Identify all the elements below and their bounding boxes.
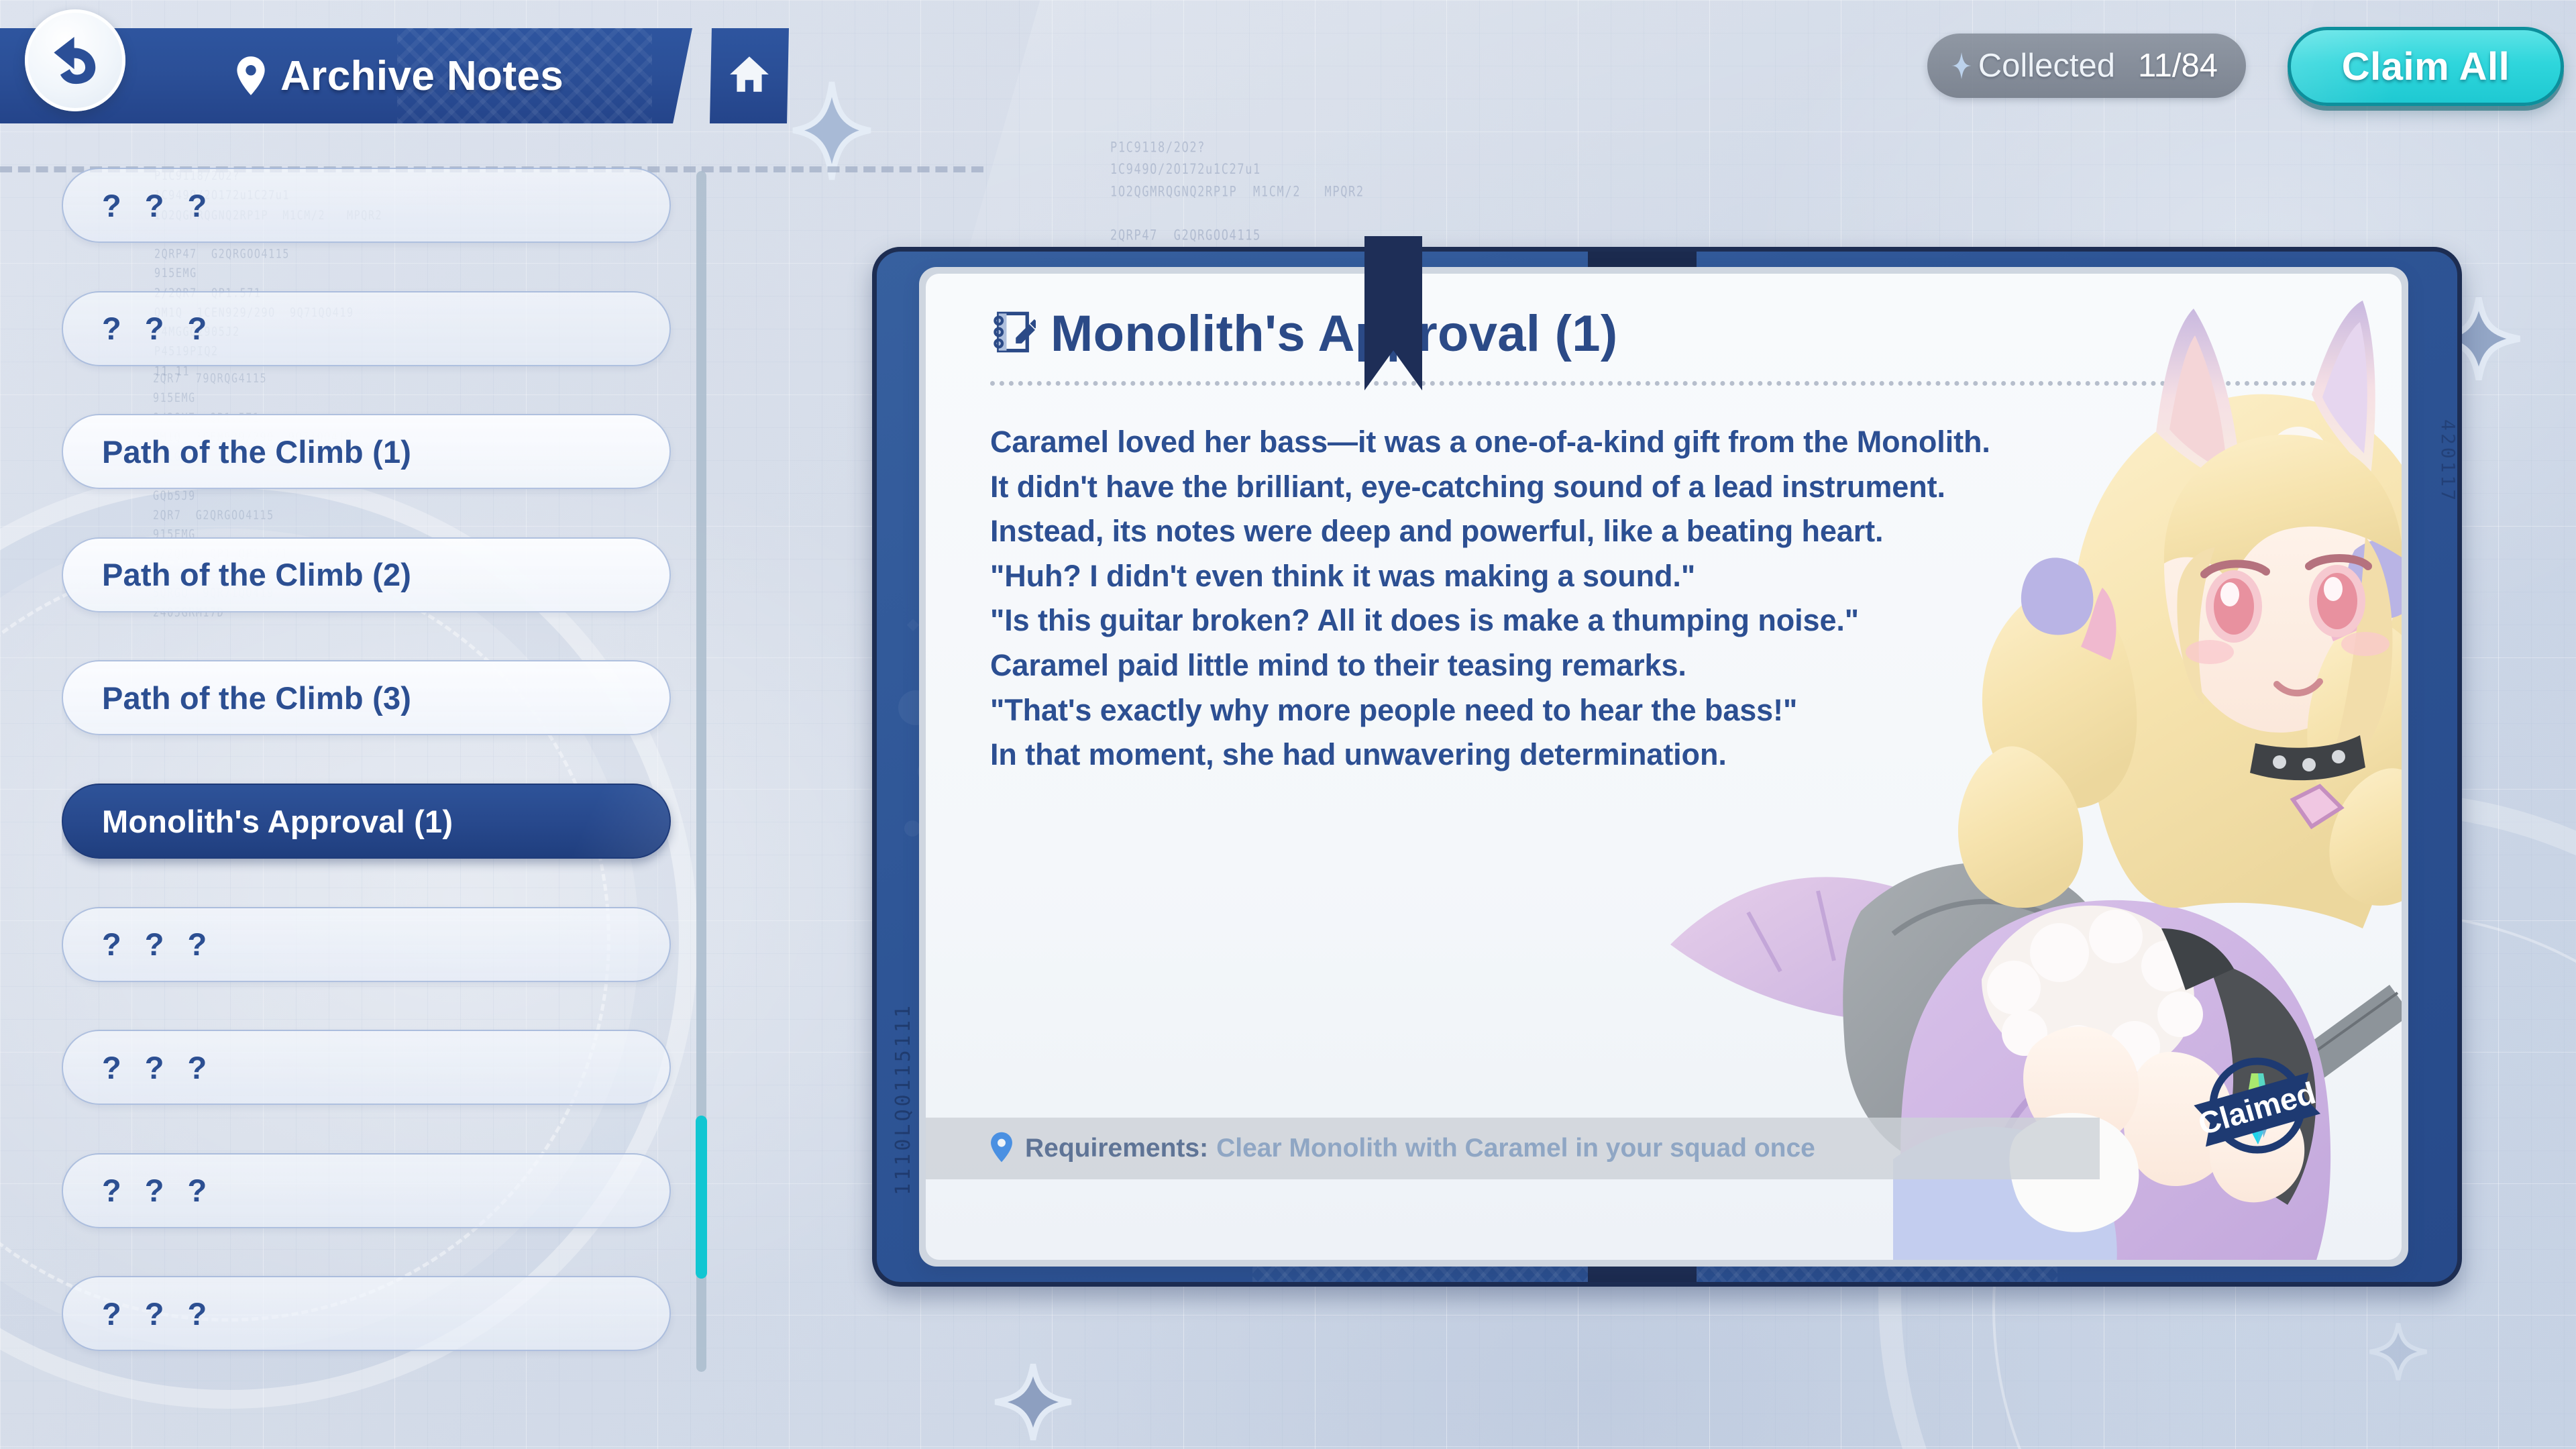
note-body-line: Caramel loved her bass—it was a one-of-a… — [990, 420, 1862, 465]
requirements-label: Requirements: — [1025, 1134, 1208, 1163]
claim-all-button[interactable]: Claim All — [2288, 27, 2564, 106]
sidebar-item-label: Monolith's Approval (1) — [102, 803, 453, 840]
sidebar-item-locked-8[interactable]: ? ? ? — [62, 1153, 671, 1228]
sidebar-item-label: ? ? ? — [102, 187, 214, 224]
card-vertical-glyph-2: 420117 — [2437, 419, 2459, 503]
claim-all-label: Claim All — [2342, 44, 2510, 89]
sidebar-item-active-5[interactable]: Monolith's Approval (1) — [62, 784, 671, 859]
requirements-value: Clear Monolith with Caramel in your squa… — [1216, 1134, 1815, 1163]
note-body-line: "That's exactly why more people need to … — [990, 688, 1862, 733]
header-title-group: Archive Notes — [236, 28, 563, 123]
notepad-pencil-icon — [990, 309, 1036, 358]
location-pin-icon — [990, 1132, 1025, 1166]
home-icon — [727, 52, 771, 100]
note-body: Caramel loved her bass—it was a one-of-a… — [990, 420, 1862, 777]
location-pin-icon — [236, 56, 266, 95]
sidebar-item-label: ? ? ? — [102, 1172, 214, 1209]
sidebar-item-label: ? ? ? — [102, 1295, 214, 1332]
sidebar-scrollbar-thumb[interactable] — [696, 1116, 707, 1279]
sidebar-item-note-3[interactable]: Path of the Climb (2) — [62, 537, 671, 612]
sparkle-star-icon — [1950, 52, 1973, 79]
back-arrow-icon — [46, 30, 105, 92]
sidebar-item-label: Path of the Climb (2) — [102, 556, 411, 593]
sidebar-item-locked-0[interactable]: ? ? ? — [62, 168, 671, 243]
sidebar-item-note-2[interactable]: Path of the Climb (1) — [62, 414, 671, 489]
sidebar-item-note-4[interactable]: Path of the Climb (3) — [62, 660, 671, 735]
sparkle-star-icon — [2368, 1322, 2428, 1382]
collected-counter: Collected 11/84 — [1927, 34, 2246, 98]
sidebar-item-label: Path of the Climb (1) — [102, 433, 411, 470]
note-title: Monolith's Approval (1) — [1051, 305, 1617, 363]
back-button[interactable] — [25, 9, 125, 111]
page-title: Archive Notes — [280, 52, 563, 100]
note-title-divider — [990, 381, 2344, 386]
sidebar-item-label: ? ? ? — [102, 926, 214, 963]
sidebar-item-label: ? ? ? — [102, 310, 214, 347]
note-card: Monolith's Approval (1) — [919, 267, 2408, 1267]
sidebar-item-locked-9[interactable]: ? ? ? — [62, 1276, 671, 1351]
sidebar-item-label: ? ? ? — [102, 1049, 214, 1086]
claimed-stamp-icon: Claimed — [2194, 1046, 2321, 1174]
card-vertical-glyph: 1110LQ0115111 — [892, 1003, 915, 1195]
sparkle-star-icon — [993, 1362, 1073, 1442]
requirements-bar: Requirements: Clear Monolith with Carame… — [926, 1118, 2100, 1179]
sidebar-item-locked-6[interactable]: ? ? ? — [62, 907, 671, 982]
note-body-line: In that moment, she had unwavering deter… — [990, 733, 1862, 777]
note-body-line: Caramel paid little mind to their teasin… — [990, 643, 1862, 688]
claimed-label: Claimed — [2194, 1075, 2319, 1141]
note-body-line: It didn't have the brilliant, eye-catchi… — [990, 465, 1862, 510]
note-card-paper: Monolith's Approval (1) — [926, 274, 2402, 1260]
sidebar-item-locked-7[interactable]: ? ? ? — [62, 1030, 671, 1105]
note-body-line: "Huh? I didn't even think it was making … — [990, 554, 1862, 599]
note-body-line: "Is this guitar broken? All it does is m… — [990, 598, 1862, 643]
sidebar-item-label: Path of the Climb (3) — [102, 680, 411, 716]
note-body-line: Instead, its notes were deep and powerfu… — [990, 509, 1862, 554]
home-button[interactable] — [710, 28, 789, 123]
sidebar-item-locked-1[interactable]: ? ? ? — [62, 291, 671, 366]
collected-count: 11/84 — [2138, 47, 2218, 85]
collected-label: Collected — [1978, 47, 2115, 85]
archive-notes-list[interactable]: ? ? ?? ? ?Path of the Climb (1)Path of t… — [62, 168, 679, 1415]
note-title-row: Monolith's Approval (1) — [990, 305, 1617, 363]
